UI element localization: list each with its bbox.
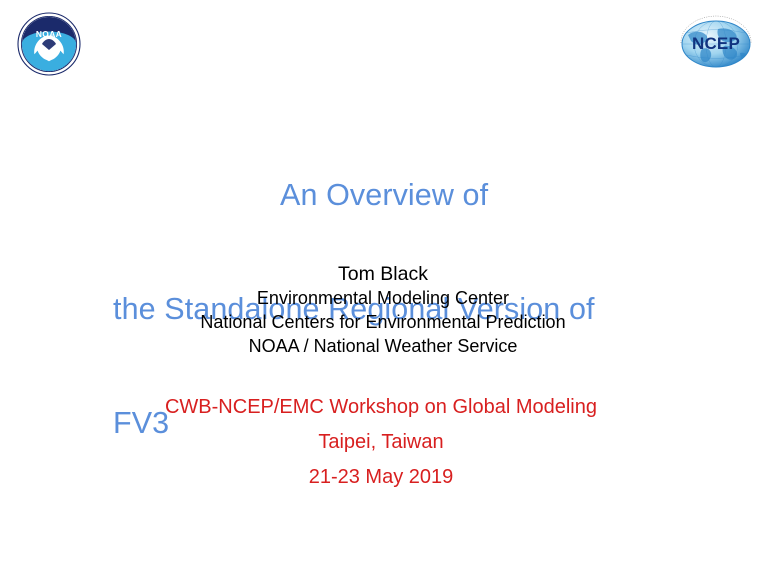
ncep-logo: NCEP — [672, 13, 760, 73]
title-line-1: An Overview of — [113, 176, 673, 214]
noaa-wordmark: NOAA — [36, 29, 62, 39]
noaa-logo: NOAA — [17, 12, 81, 76]
author-name: Tom Black — [0, 262, 766, 286]
author-org-1: Environmental Modeling Center — [0, 286, 766, 310]
event-location: Taipei, Taiwan — [0, 425, 762, 460]
author-block: Tom Black Environmental Modeling Center … — [0, 262, 766, 358]
event-title: CWB-NCEP/EMC Workshop on Global Modeling — [0, 390, 762, 425]
author-org-2: National Centers for Environmental Predi… — [0, 310, 766, 334]
event-date: 21-23 May 2019 — [0, 460, 762, 495]
author-org-3: NOAA / National Weather Service — [0, 334, 766, 358]
ncep-wordmark: NCEP — [692, 34, 740, 53]
event-block: CWB-NCEP/EMC Workshop on Global Modeling… — [0, 390, 762, 495]
presentation-slide: NOAA — [0, 0, 768, 576]
